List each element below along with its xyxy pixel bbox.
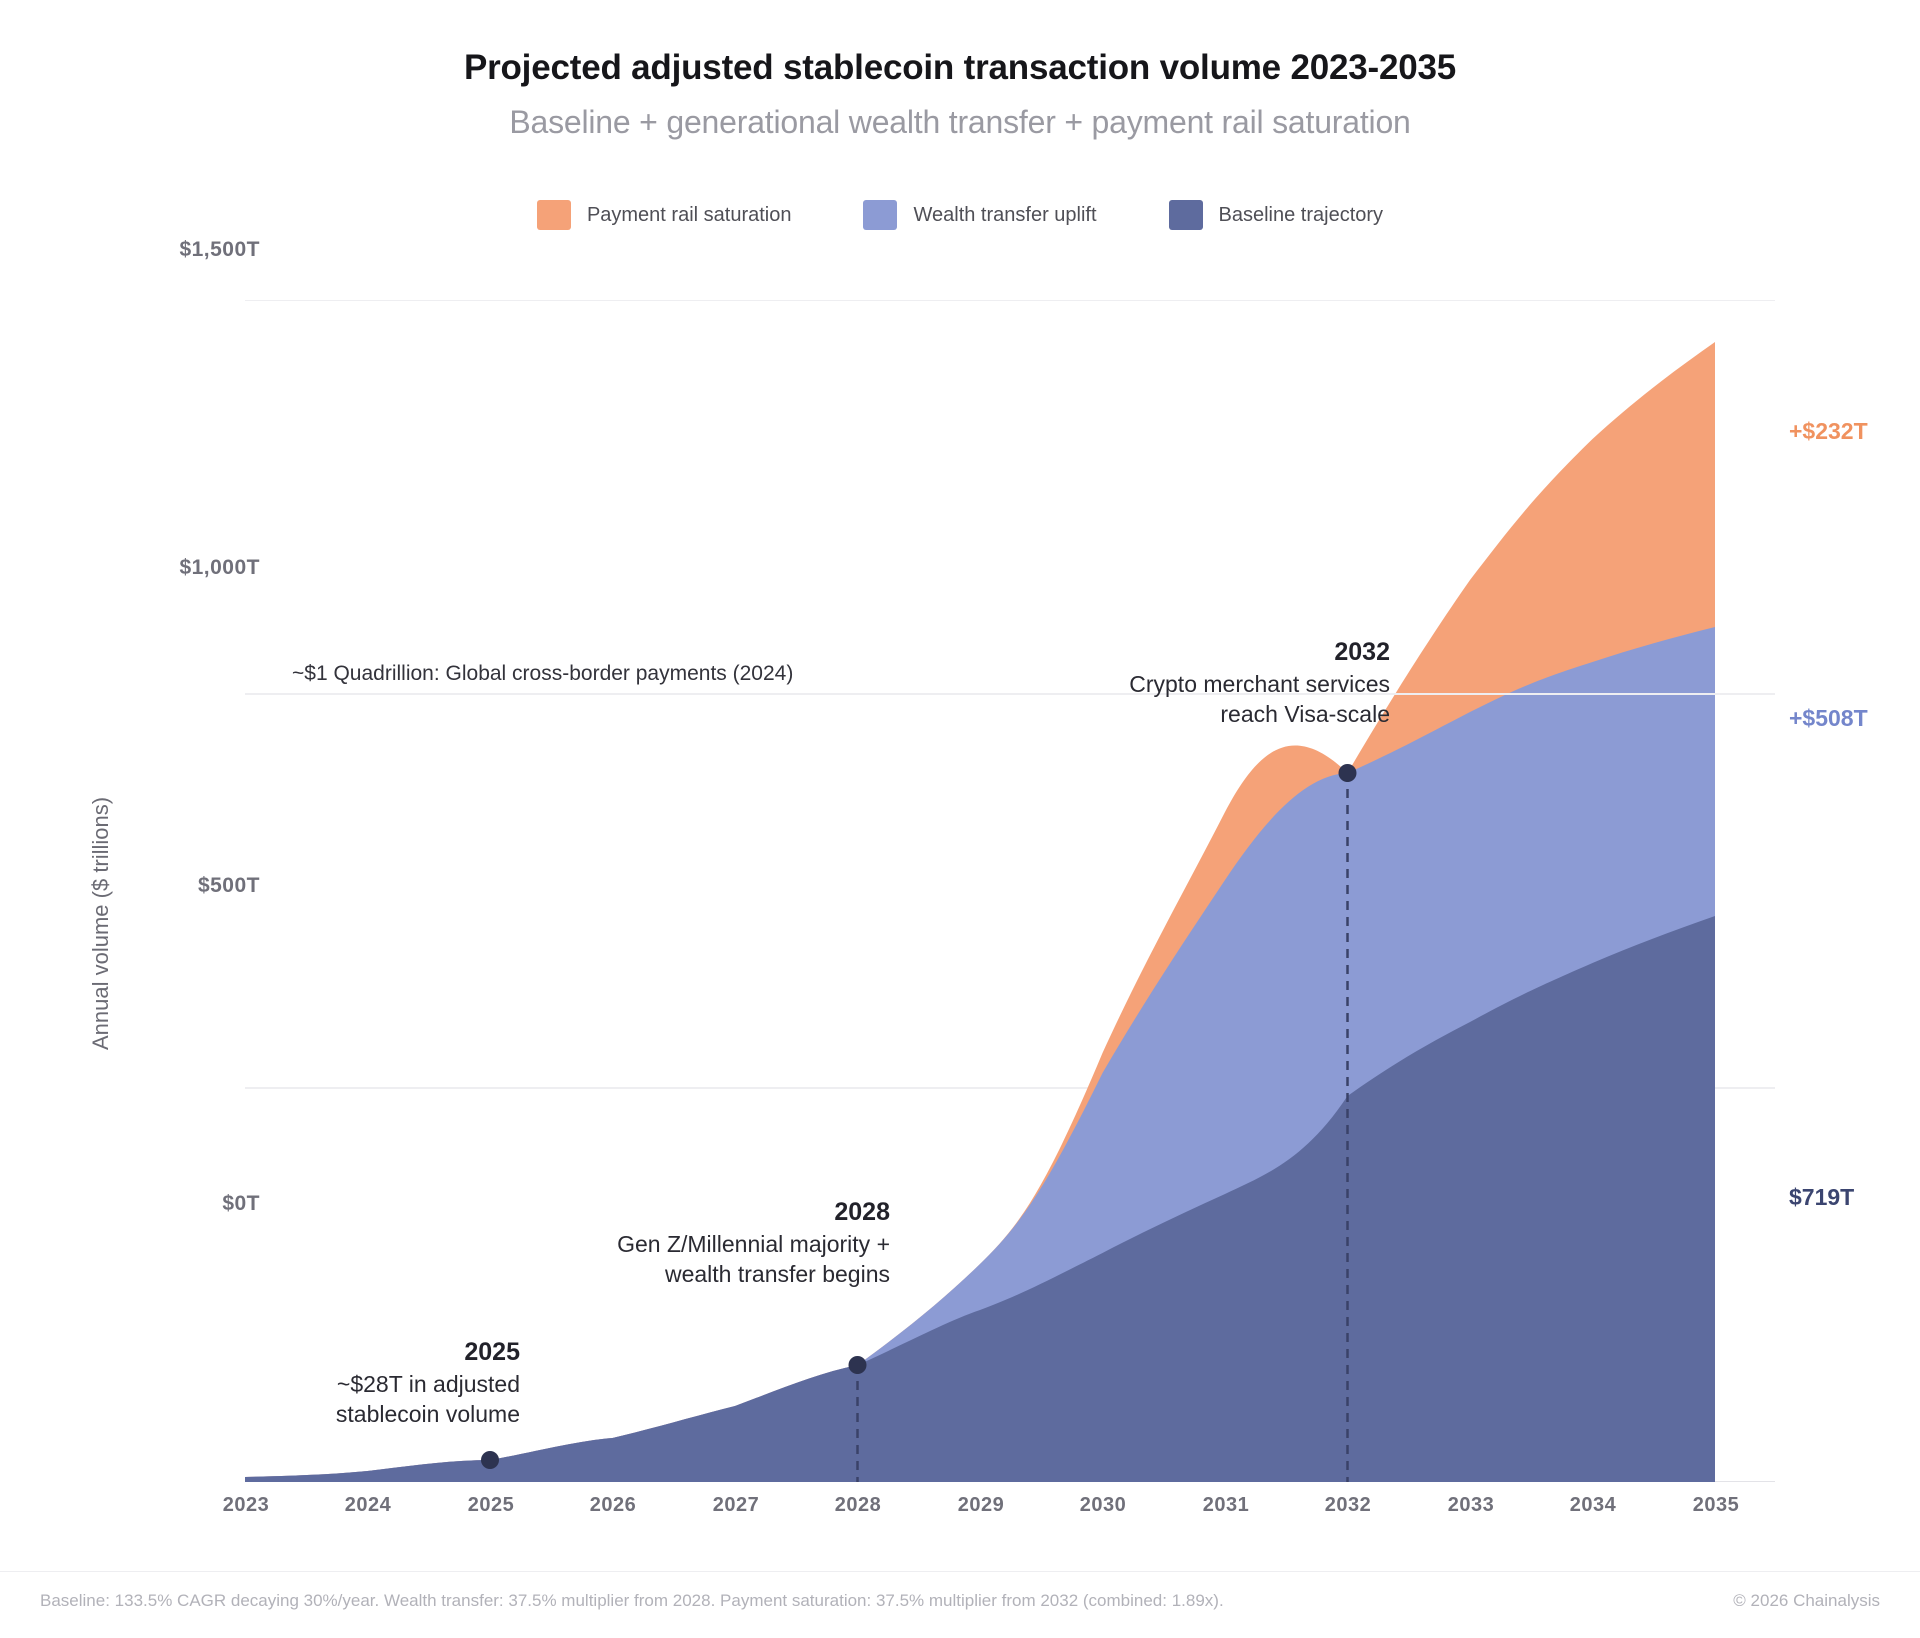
legend-item-baseline-trajectory[interactable]: Baseline trajectory — [1169, 200, 1384, 230]
x-tick-2031: 2031 — [1166, 1494, 1286, 1517]
annotation-2032-line1: Crypto merchant services — [940, 669, 1390, 699]
annotation-2028: 2028 Gen Z/Millennial majority + wealth … — [430, 1196, 890, 1289]
y-tick-1500: $1,500T — [100, 238, 260, 262]
y-tick-500: $500T — [100, 874, 260, 898]
edge-label-baseline-trajectory: $719T — [1789, 1184, 1854, 1211]
annotation-2025: 2025 ~$28T in adjusted stablecoin volume — [150, 1336, 520, 1429]
chart-card: Projected adjusted stablecoin transactio… — [0, 0, 1920, 1638]
x-tick-2034: 2034 — [1533, 1494, 1653, 1517]
annotation-marker-2025[interactable] — [481, 1451, 499, 1469]
annotation-marker-2032[interactable] — [1339, 764, 1357, 782]
plot-area — [245, 300, 1775, 1482]
footer-copyright: © 2026 Chainalysis — [1733, 1591, 1880, 1611]
footer-note: Baseline: 133.5% CAGR decaying 30%/year.… — [40, 1591, 1224, 1611]
annotation-2025-year: 2025 — [150, 1336, 520, 1369]
x-tick-2028: 2028 — [798, 1494, 918, 1517]
legend-item-wealth-transfer-uplift[interactable]: Wealth transfer uplift — [863, 200, 1096, 230]
x-tick-2023: 2023 — [186, 1494, 306, 1517]
page-subtitle: Baseline + generational wealth transfer … — [0, 104, 1920, 141]
legend-swatch-icon — [863, 200, 897, 230]
annotation-2028-line1: Gen Z/Millennial majority + — [430, 1229, 890, 1259]
edge-label-wealth-transfer-uplift: +$508T — [1789, 705, 1868, 732]
x-tick-2035: 2035 — [1656, 1494, 1776, 1517]
legend-swatch-icon — [537, 200, 571, 230]
annotation-2025-line2: stablecoin volume — [150, 1399, 520, 1429]
y-tick-1000: $1,000T — [100, 556, 260, 580]
x-tick-2030: 2030 — [1043, 1494, 1163, 1517]
x-tick-2032: 2032 — [1288, 1494, 1408, 1517]
legend-item-label: Wealth transfer uplift — [913, 204, 1096, 227]
annotation-2028-year: 2028 — [430, 1196, 890, 1229]
annotation-2032-line2: reach Visa-scale — [940, 699, 1390, 729]
legend-swatch-icon — [1169, 200, 1203, 230]
x-tick-2025: 2025 — [431, 1494, 551, 1517]
y-axis-label: Annual volume ($ trillions) — [88, 797, 114, 1050]
x-tick-2027: 2027 — [676, 1494, 796, 1517]
x-tick-2033: 2033 — [1411, 1494, 1531, 1517]
annotation-2032-year: 2032 — [940, 636, 1390, 669]
x-tick-2029: 2029 — [921, 1494, 1041, 1517]
x-tick-2024: 2024 — [308, 1494, 428, 1517]
edge-label-payment-rail-saturation: +$232T — [1789, 418, 1868, 445]
page-title: Projected adjusted stablecoin transactio… — [0, 48, 1920, 88]
chart-legend: Payment rail saturation Wealth transfer … — [0, 200, 1920, 230]
x-tick-2026: 2026 — [553, 1494, 673, 1517]
y-tick-0: $0T — [100, 1192, 260, 1216]
reference-line-label: ~$1 Quadrillion: Global cross-border pay… — [292, 662, 793, 686]
annotation-2032: 2032 Crypto merchant services reach Visa… — [940, 636, 1390, 729]
area-chart-svg — [245, 300, 1775, 1482]
annotation-2025-line1: ~$28T in adjusted — [150, 1369, 520, 1399]
footer-divider — [0, 1571, 1920, 1572]
legend-item-payment-rail-saturation[interactable]: Payment rail saturation — [537, 200, 792, 230]
legend-item-label: Baseline trajectory — [1219, 204, 1384, 227]
annotation-2028-line2: wealth transfer begins — [430, 1259, 890, 1289]
annotation-marker-2028[interactable] — [849, 1356, 867, 1374]
legend-item-label: Payment rail saturation — [587, 204, 792, 227]
